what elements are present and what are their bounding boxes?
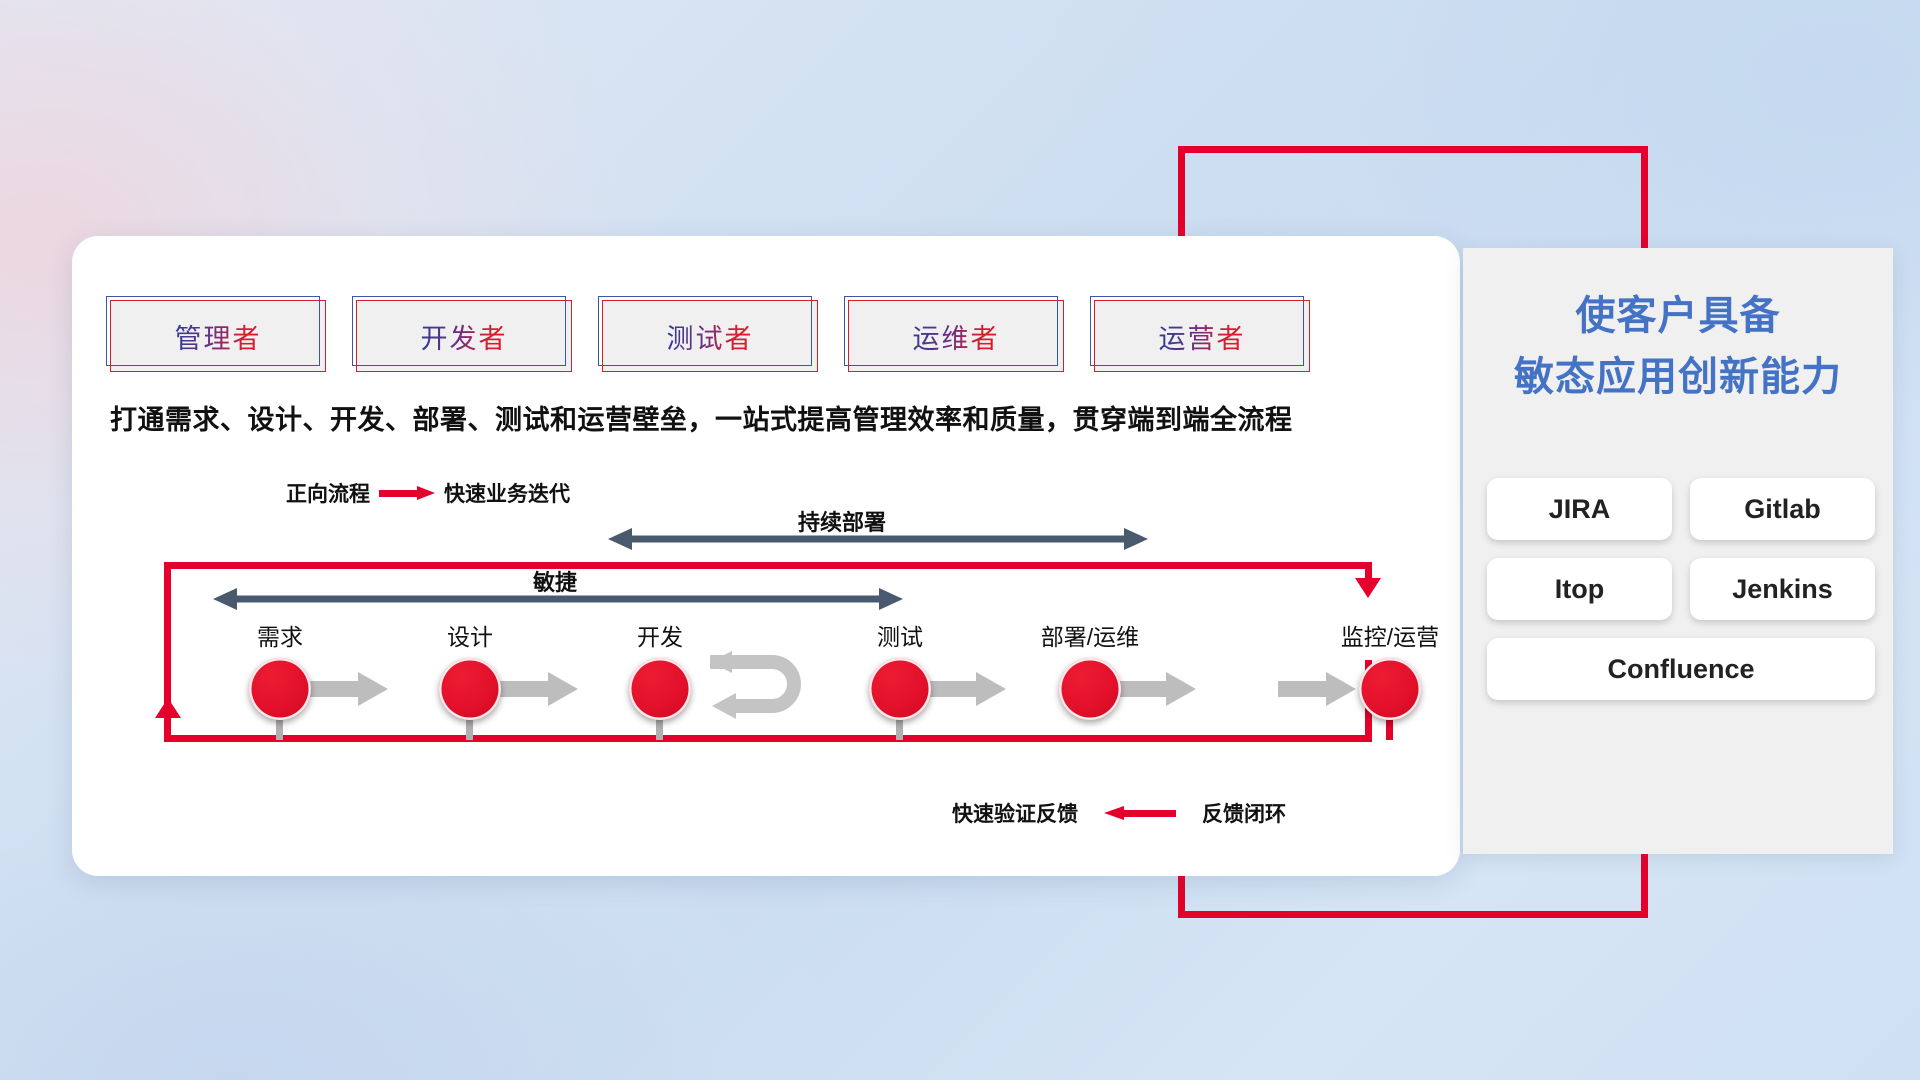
stage-circle-icon <box>439 658 501 720</box>
legend-forward-flow: 正向流程 快速业务迭代 <box>286 478 570 508</box>
tool-pill-jira[interactable]: JIRA <box>1487 478 1672 540</box>
stage-label: 测试 <box>835 618 965 652</box>
role-box-business-operator[interactable]: 运营者 <box>1094 300 1310 372</box>
stage-circle-icon <box>1059 658 1121 720</box>
role-box-developer[interactable]: 开发者 <box>356 300 572 372</box>
panel-heading-line-1: 使客户具备 <box>1463 286 1893 347</box>
stage-label: 开发 <box>595 618 725 652</box>
red-bracket-bottom-segment <box>1178 911 1648 918</box>
role-label: 运营者 <box>1159 317 1246 356</box>
tool-pill-itop[interactable]: Itop <box>1487 558 1672 620</box>
stage-circle-icon <box>1359 658 1421 720</box>
stage-circle-icon <box>249 658 311 720</box>
tool-pill-grid: JIRA Gitlab Itop Jenkins Confluence <box>1487 478 1875 700</box>
tool-pill-gitlab[interactable]: Gitlab <box>1690 478 1875 540</box>
role-label: 管理者 <box>175 317 262 356</box>
arrow-down-red-icon <box>1355 578 1381 598</box>
red-bracket-top-segment <box>1178 146 1648 153</box>
u-turn-loop-arrow-icon <box>706 648 816 724</box>
feedback-loop-top <box>164 562 1372 569</box>
tool-pill-jenkins[interactable]: Jenkins <box>1690 558 1875 620</box>
stage-label: 设计 <box>405 618 535 652</box>
legend-feedback-loop: 快速验证反馈 反馈闭环 <box>952 798 1286 828</box>
legend-feedback-result: 快速验证反馈 <box>952 798 1078 828</box>
slide-canvas: 管理者 开发者 测试者 运维者 运营者 打通需求、设计、开发、部署、测试和运营壁… <box>0 0 1920 1080</box>
stage-monitoring-operation[interactable]: 监控/运营 <box>1325 618 1455 720</box>
role-box-row: 管理者 开发者 测试者 运维者 运营者 <box>110 300 1310 372</box>
stage-circle-icon <box>869 658 931 720</box>
stage-label: 部署/运维 <box>1025 618 1155 652</box>
stage-deployment-operations[interactable]: 部署/运维 <box>1025 618 1155 720</box>
role-box-manager[interactable]: 管理者 <box>110 300 326 372</box>
stage-label: 监控/运营 <box>1325 618 1455 652</box>
tool-pill-confluence[interactable]: Confluence <box>1487 638 1875 700</box>
role-box-tester[interactable]: 测试者 <box>602 300 818 372</box>
double-arrow-continuous-deployment-icon <box>608 528 1148 550</box>
legend-forward-result: 快速业务迭代 <box>444 478 570 508</box>
arrow-right-red-icon <box>379 486 435 500</box>
role-label: 测试者 <box>667 317 754 356</box>
stage-requirement[interactable]: 需求 <box>215 618 345 720</box>
role-label: 运维者 <box>913 317 1000 356</box>
role-box-operations[interactable]: 运维者 <box>848 300 1064 372</box>
stage-label: 需求 <box>215 618 345 652</box>
legend-feedback-label: 反馈闭环 <box>1202 798 1286 828</box>
stage-circle-icon <box>629 658 691 720</box>
double-arrow-agile-icon <box>213 588 903 610</box>
panel-heading: 使客户具备 敏态应用创新能力 <box>1463 286 1893 408</box>
stage-testing[interactable]: 测试 <box>835 618 965 720</box>
description-text: 打通需求、设计、开发、部署、测试和运营壁垒，一站式提高管理效率和质量，贯穿端到端… <box>110 398 1420 437</box>
legend-forward-label: 正向流程 <box>286 478 370 508</box>
arrow-left-red-icon <box>1104 806 1176 820</box>
stage-design[interactable]: 设计 <box>405 618 535 720</box>
role-label: 开发者 <box>421 317 508 356</box>
panel-heading-line-2: 敏态应用创新能力 <box>1463 347 1893 408</box>
